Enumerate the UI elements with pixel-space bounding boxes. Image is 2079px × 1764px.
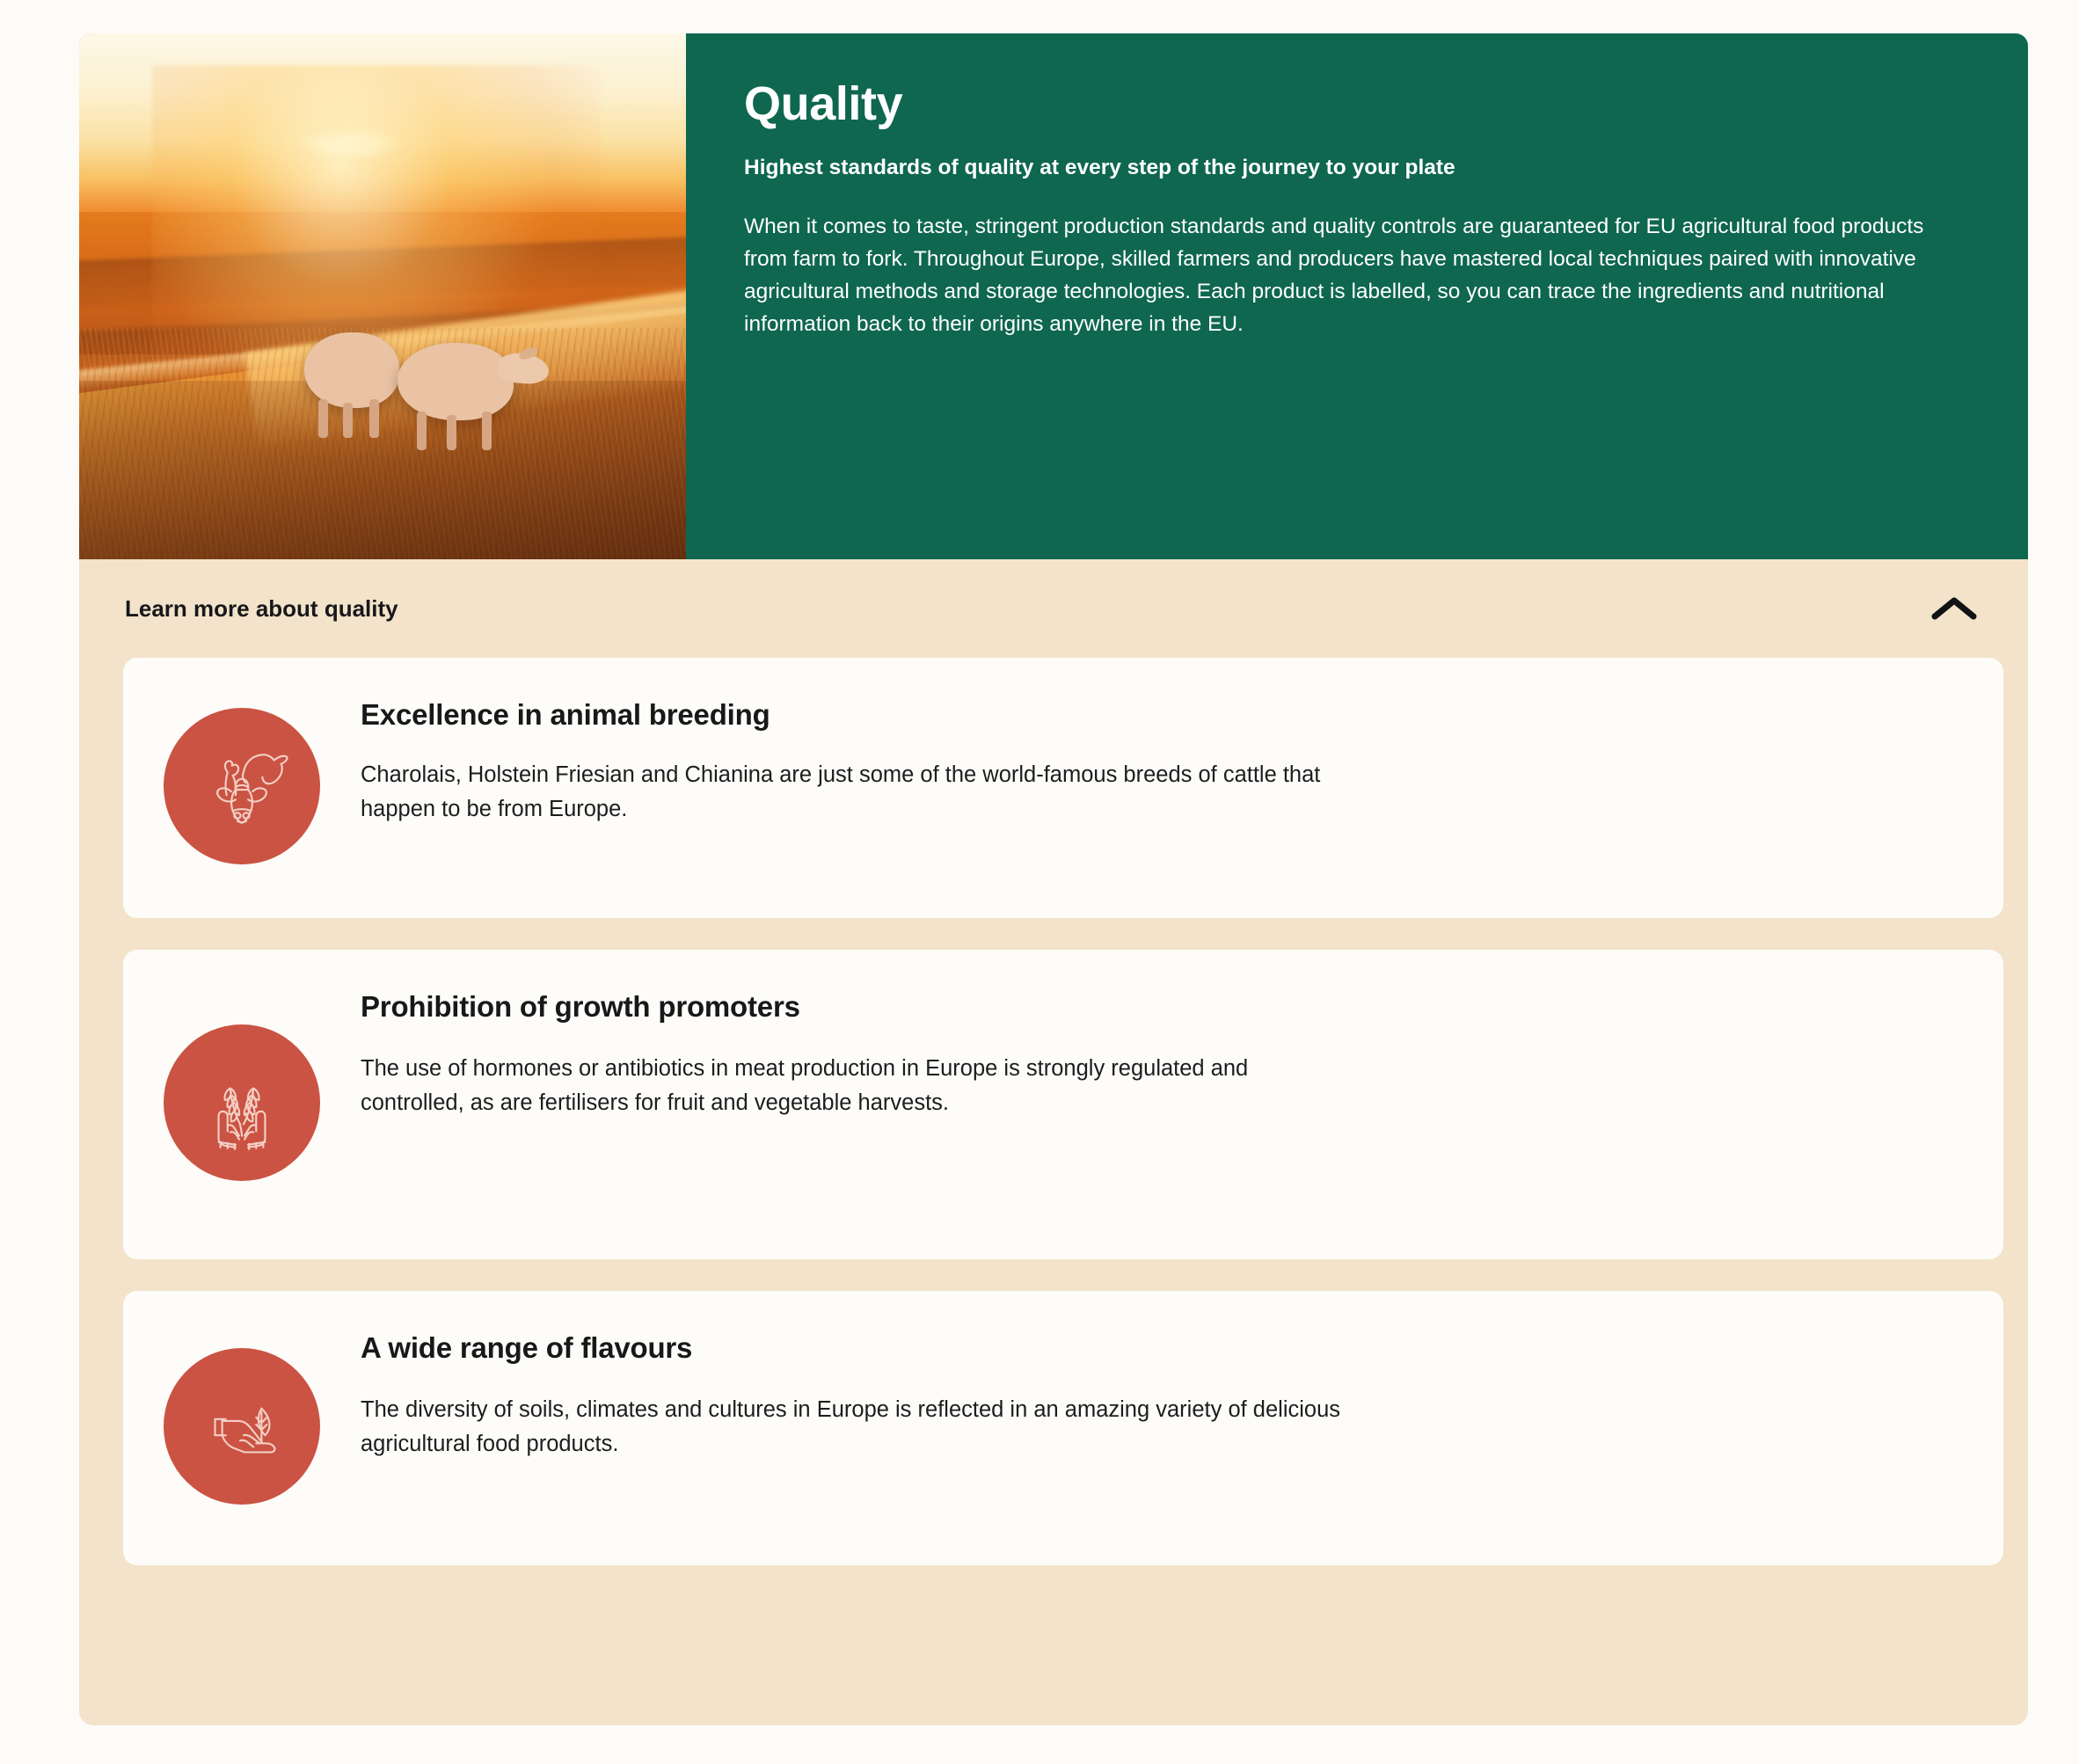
card-title: Prohibition of growth promoters — [361, 990, 1354, 1024]
hero-banner: Quality Highest standards of quality at … — [79, 33, 2028, 559]
accordion-header-label: Learn more about quality — [125, 595, 398, 623]
card-title: Excellence in animal breeding — [361, 698, 1354, 732]
card-body: A wide range of flavours The diversity o… — [361, 1321, 1381, 1461]
photo-sheep — [304, 332, 399, 408]
cow-head-icon — [164, 708, 320, 864]
card-text: The diversity of soils, climates and cul… — [361, 1393, 1354, 1461]
list-item[interactable]: Prohibition of growth promoters The use … — [123, 950, 2003, 1259]
card-body: Excellence in animal breeding Charolais,… — [361, 688, 1381, 827]
photo-sheep — [398, 343, 514, 420]
list-item[interactable]: Excellence in animal breeding Charolais,… — [123, 658, 2003, 918]
card-text: Charolais, Holstein Friesian and Chianin… — [361, 758, 1354, 827]
card-title: A wide range of flavours — [361, 1331, 1354, 1365]
hero-image-sunset-sheep — [79, 33, 686, 559]
card-body: Prohibition of growth promoters The use … — [361, 980, 1381, 1120]
hand-holding-leaf-icon — [164, 1348, 320, 1505]
hero-body-text: When it comes to taste, stringent produc… — [744, 210, 1970, 341]
list-item[interactable]: A wide range of flavours The diversity o… — [123, 1291, 2003, 1565]
hands-holding-wheat-icon — [164, 1024, 320, 1181]
page-title: Quality — [744, 79, 1970, 129]
card-icon-wrap — [123, 1024, 361, 1181]
accordion-content: Excellence in animal breeding Charolais,… — [79, 658, 2028, 1565]
hero-text-block: Quality Highest standards of quality at … — [686, 33, 2028, 559]
accordion-toggle[interactable]: Learn more about quality — [79, 559, 2028, 658]
card-text: The use of hormones or antibiotics in me… — [361, 1052, 1354, 1120]
card-icon-wrap — [123, 708, 361, 864]
chevron-up-icon[interactable] — [1929, 594, 1979, 623]
hero-subtitle: Highest standards of quality at every st… — [744, 154, 1970, 182]
page-root: Quality Highest standards of quality at … — [0, 0, 2079, 1764]
card-icon-wrap — [123, 1348, 361, 1505]
learn-more-panel: Learn more about quality — [79, 559, 2028, 1725]
